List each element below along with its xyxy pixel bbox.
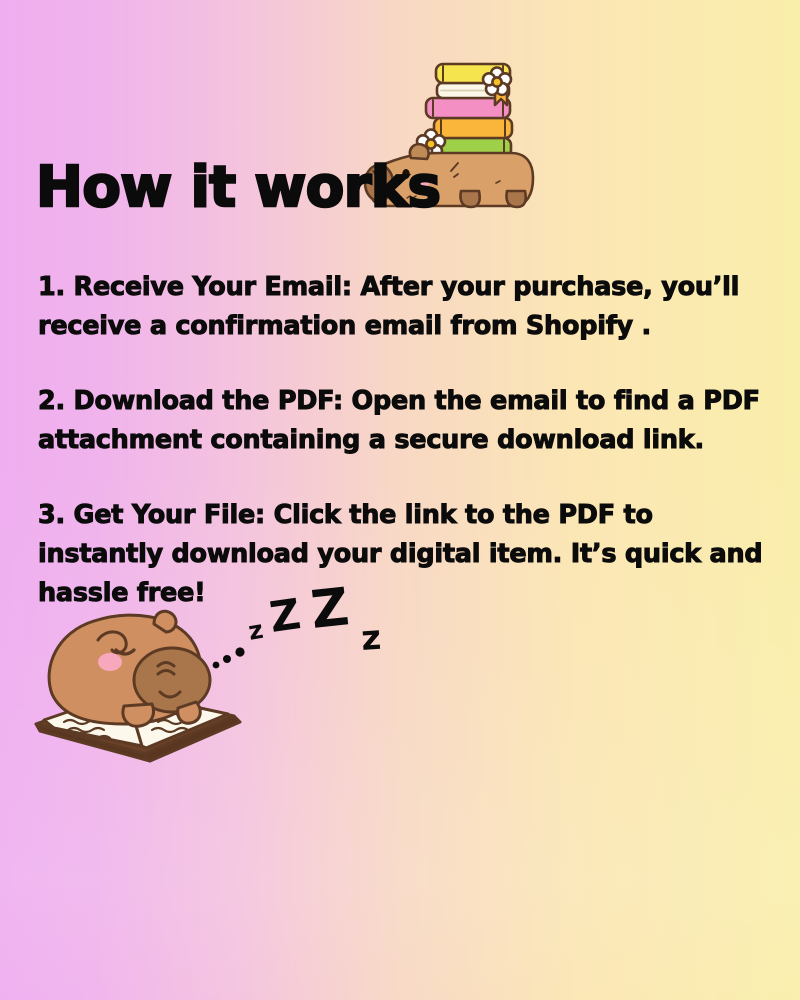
svg-text:z: z: [360, 618, 383, 659]
svg-text:z: z: [246, 615, 265, 646]
capybara-foot-front: [460, 191, 479, 207]
sleep-dots: [213, 647, 245, 668]
sleep-zzz-marks: z Z Z z: [246, 577, 382, 659]
svg-text:Z: Z: [308, 577, 352, 641]
capybara-foot-back: [506, 191, 525, 207]
step-item-2: 2. Download the PDF: Open the email to f…: [38, 382, 764, 460]
sleeping-capybara-blush: [98, 653, 122, 671]
page-title: How it works: [36, 160, 440, 216]
step-item-1: 1. Receive Your Email: After your purcha…: [38, 268, 764, 346]
sleeping-capybara-snout: [134, 648, 210, 712]
svg-text:Z: Z: [267, 589, 304, 642]
sleeping-capybara-paw: [123, 704, 154, 726]
sleeping-capybara-illustration: z Z Z z: [28, 588, 418, 798]
steps-list: 1. Receive Your Email: After your purcha…: [38, 268, 764, 613]
poster-canvas: How it works 1. Receive Your Email: Afte…: [0, 0, 800, 1000]
book-orange: [434, 118, 512, 138]
